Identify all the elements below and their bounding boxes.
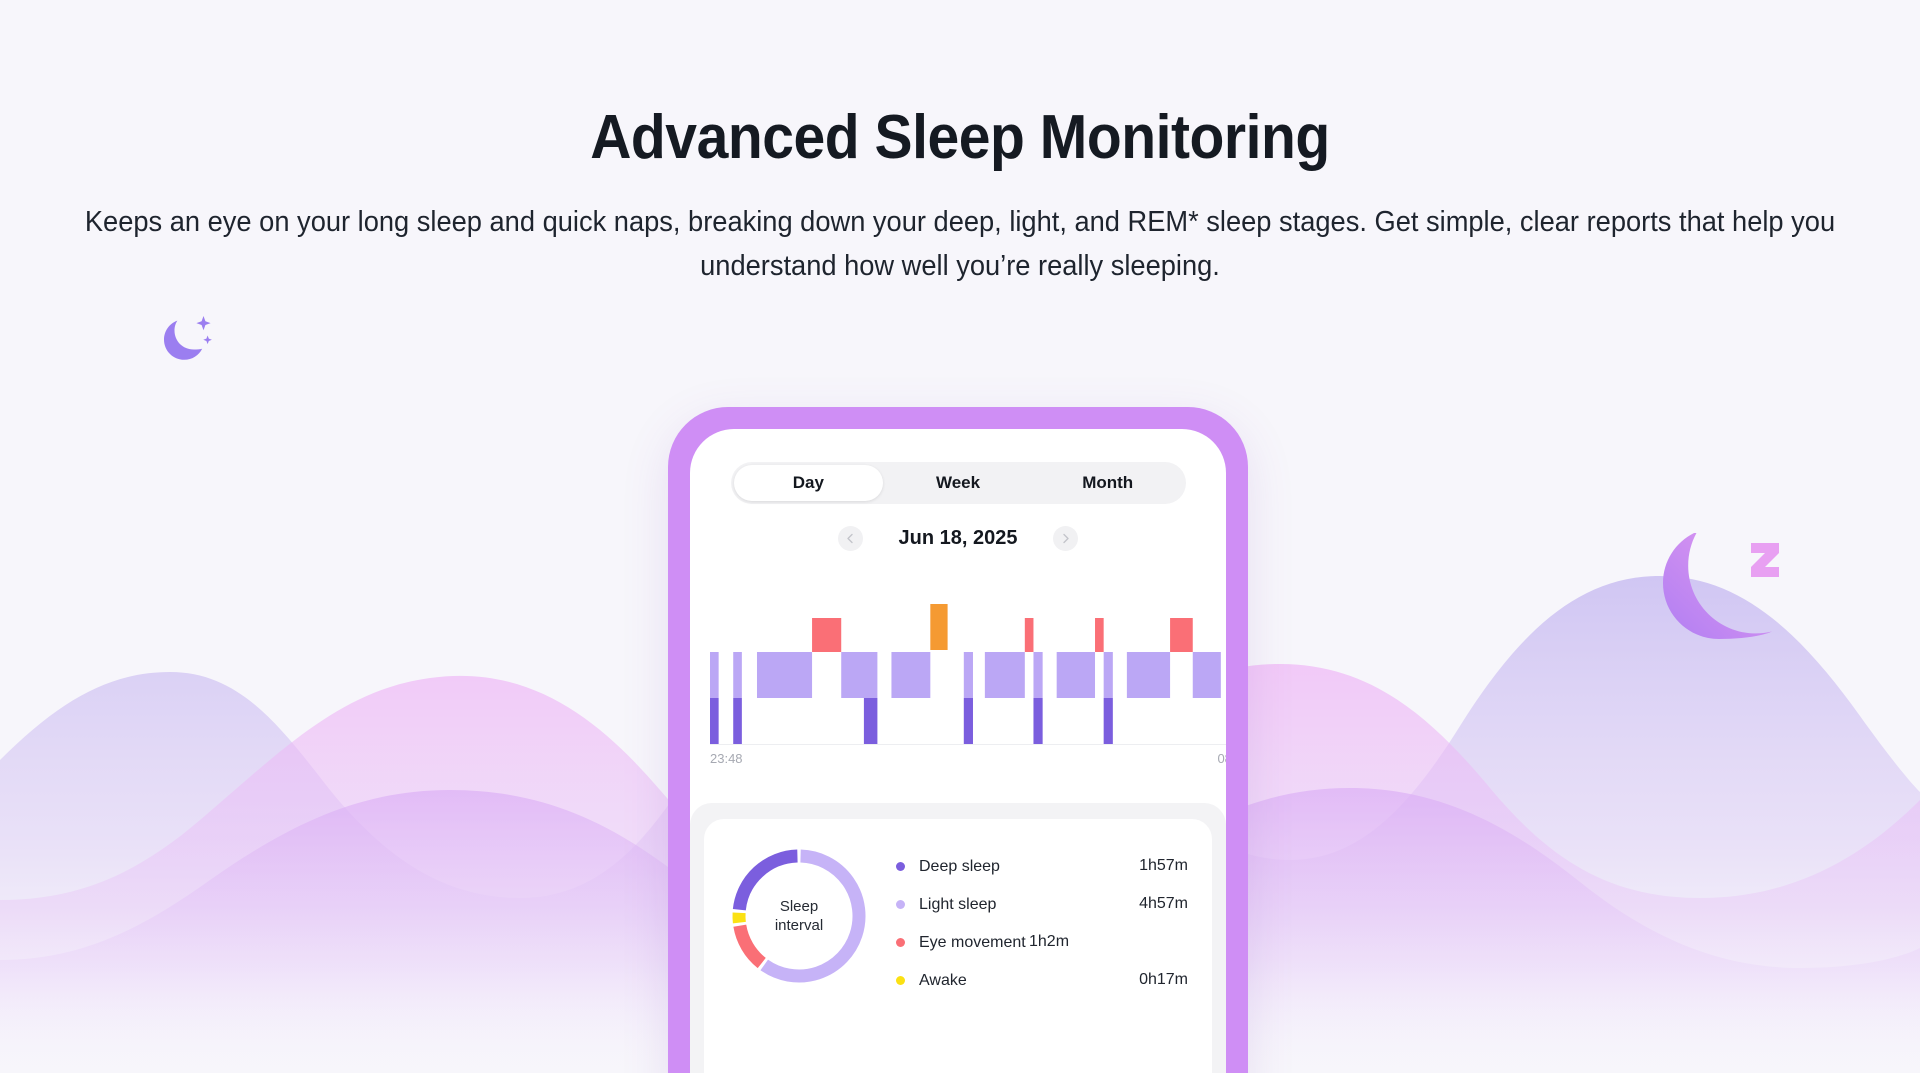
sleep-stats-card: Sleep interval Deep sleep 1h57m Light s bbox=[704, 819, 1212, 1073]
axis-tick-start: 23:48 bbox=[710, 751, 743, 766]
legend-dot-eye-movement bbox=[896, 938, 905, 947]
axis-tick-end: 08:01 bbox=[1217, 751, 1226, 766]
hypnogram-segment-light bbox=[1057, 652, 1095, 698]
hypnogram-segment-light bbox=[733, 652, 742, 698]
legend-row-awake: Awake 0h17m bbox=[896, 961, 1188, 999]
legend-value-deep-sleep: 1h57m bbox=[1139, 857, 1188, 875]
legend-dot-awake bbox=[896, 976, 905, 985]
hypnogram-segment-deep bbox=[964, 698, 973, 744]
legend-row-deep-sleep: Deep sleep 1h57m bbox=[896, 847, 1188, 885]
hypnogram-bars bbox=[710, 604, 1226, 744]
hypnogram-segment-light bbox=[964, 652, 973, 698]
legend-dot-light-sleep bbox=[896, 900, 905, 909]
hypnogram-segment-light bbox=[757, 652, 812, 698]
hypnogram-segment-light bbox=[710, 652, 719, 698]
chevron-right-icon bbox=[1060, 533, 1071, 544]
legend-label-eye-movement: Eye movement bbox=[919, 933, 1029, 952]
crescent-moon-z-icon bbox=[1655, 533, 1787, 650]
phone-screen: Day Week Month Jun 18, 2025 bbox=[690, 429, 1226, 1073]
page-root: Advanced Sleep Monitoring Keeps an eye o… bbox=[0, 0, 1920, 1073]
tab-day[interactable]: Day bbox=[734, 465, 884, 501]
legend-value-eye-movement: 1h2m bbox=[1029, 933, 1069, 951]
tab-week[interactable]: Week bbox=[883, 465, 1033, 501]
sleep-hypnogram-chart: 23:48 08:01 bbox=[710, 604, 1226, 764]
donut-center-line2: interval bbox=[775, 916, 823, 935]
donut-center-label: Sleep interval bbox=[728, 845, 870, 987]
legend-label-awake: Awake bbox=[919, 971, 1139, 990]
crescent-moon-sparkle-icon bbox=[160, 313, 216, 374]
legend-label-light-sleep: Light sleep bbox=[919, 895, 1139, 914]
hypnogram-segment-light bbox=[1193, 652, 1221, 698]
hypnogram-segment-deep bbox=[710, 698, 719, 744]
legend-value-awake: 0h17m bbox=[1139, 971, 1188, 989]
sleep-stats-panel: Sleep interval Deep sleep 1h57m Light s bbox=[690, 803, 1226, 1073]
hypnogram-segment-deep bbox=[733, 698, 742, 744]
chevron-left-icon bbox=[845, 533, 856, 544]
hypnogram-segment-eye-movement bbox=[1025, 618, 1034, 652]
phone-mockup: Day Week Month Jun 18, 2025 bbox=[668, 407, 1248, 1073]
legend-row-eye-movement: Eye movement 1h2m bbox=[896, 923, 1188, 961]
page-title: Advanced Sleep Monitoring bbox=[77, 105, 1843, 170]
header: Advanced Sleep Monitoring Keeps an eye o… bbox=[0, 105, 1920, 288]
hypnogram-segment-deep bbox=[1033, 698, 1042, 744]
hypnogram-segment-eye-movement bbox=[812, 618, 841, 652]
hypnogram-segment-light bbox=[1033, 652, 1042, 698]
legend-dot-deep-sleep bbox=[896, 862, 905, 871]
current-date-label: Jun 18, 2025 bbox=[883, 527, 1033, 550]
hypnogram-segment-light bbox=[1104, 652, 1113, 698]
hypnogram-segment-deep bbox=[864, 698, 878, 744]
sleep-stage-legend: Deep sleep 1h57m Light sleep 4h57m Eye m… bbox=[896, 845, 1188, 999]
period-tab-bar[interactable]: Day Week Month bbox=[731, 462, 1186, 504]
hypnogram-segment-awake bbox=[930, 604, 947, 650]
next-day-button[interactable] bbox=[1053, 526, 1078, 551]
page-subtitle: Keeps an eye on your long sleep and quic… bbox=[58, 200, 1863, 288]
prev-day-button[interactable] bbox=[838, 526, 863, 551]
hypnogram-segment-eye-movement bbox=[1170, 618, 1193, 652]
legend-row-light-sleep: Light sleep 4h57m bbox=[896, 885, 1188, 923]
donut-center-line1: Sleep bbox=[780, 897, 818, 916]
date-navigation: Jun 18, 2025 bbox=[710, 526, 1206, 551]
legend-label-deep-sleep: Deep sleep bbox=[919, 857, 1139, 876]
hypnogram-segment-eye-movement bbox=[1095, 618, 1104, 652]
tab-month[interactable]: Month bbox=[1033, 465, 1183, 501]
hypnogram-segment-light bbox=[985, 652, 1025, 698]
hypnogram-segment-deep bbox=[1104, 698, 1113, 744]
hypnogram-axis: 23:48 08:01 bbox=[710, 744, 1226, 745]
hypnogram-segment-light bbox=[841, 652, 877, 698]
sleep-interval-donut-chart: Sleep interval bbox=[728, 845, 870, 987]
hypnogram-segment-light bbox=[891, 652, 930, 698]
legend-value-light-sleep: 4h57m bbox=[1139, 895, 1188, 913]
hypnogram-segment-light bbox=[1127, 652, 1170, 698]
